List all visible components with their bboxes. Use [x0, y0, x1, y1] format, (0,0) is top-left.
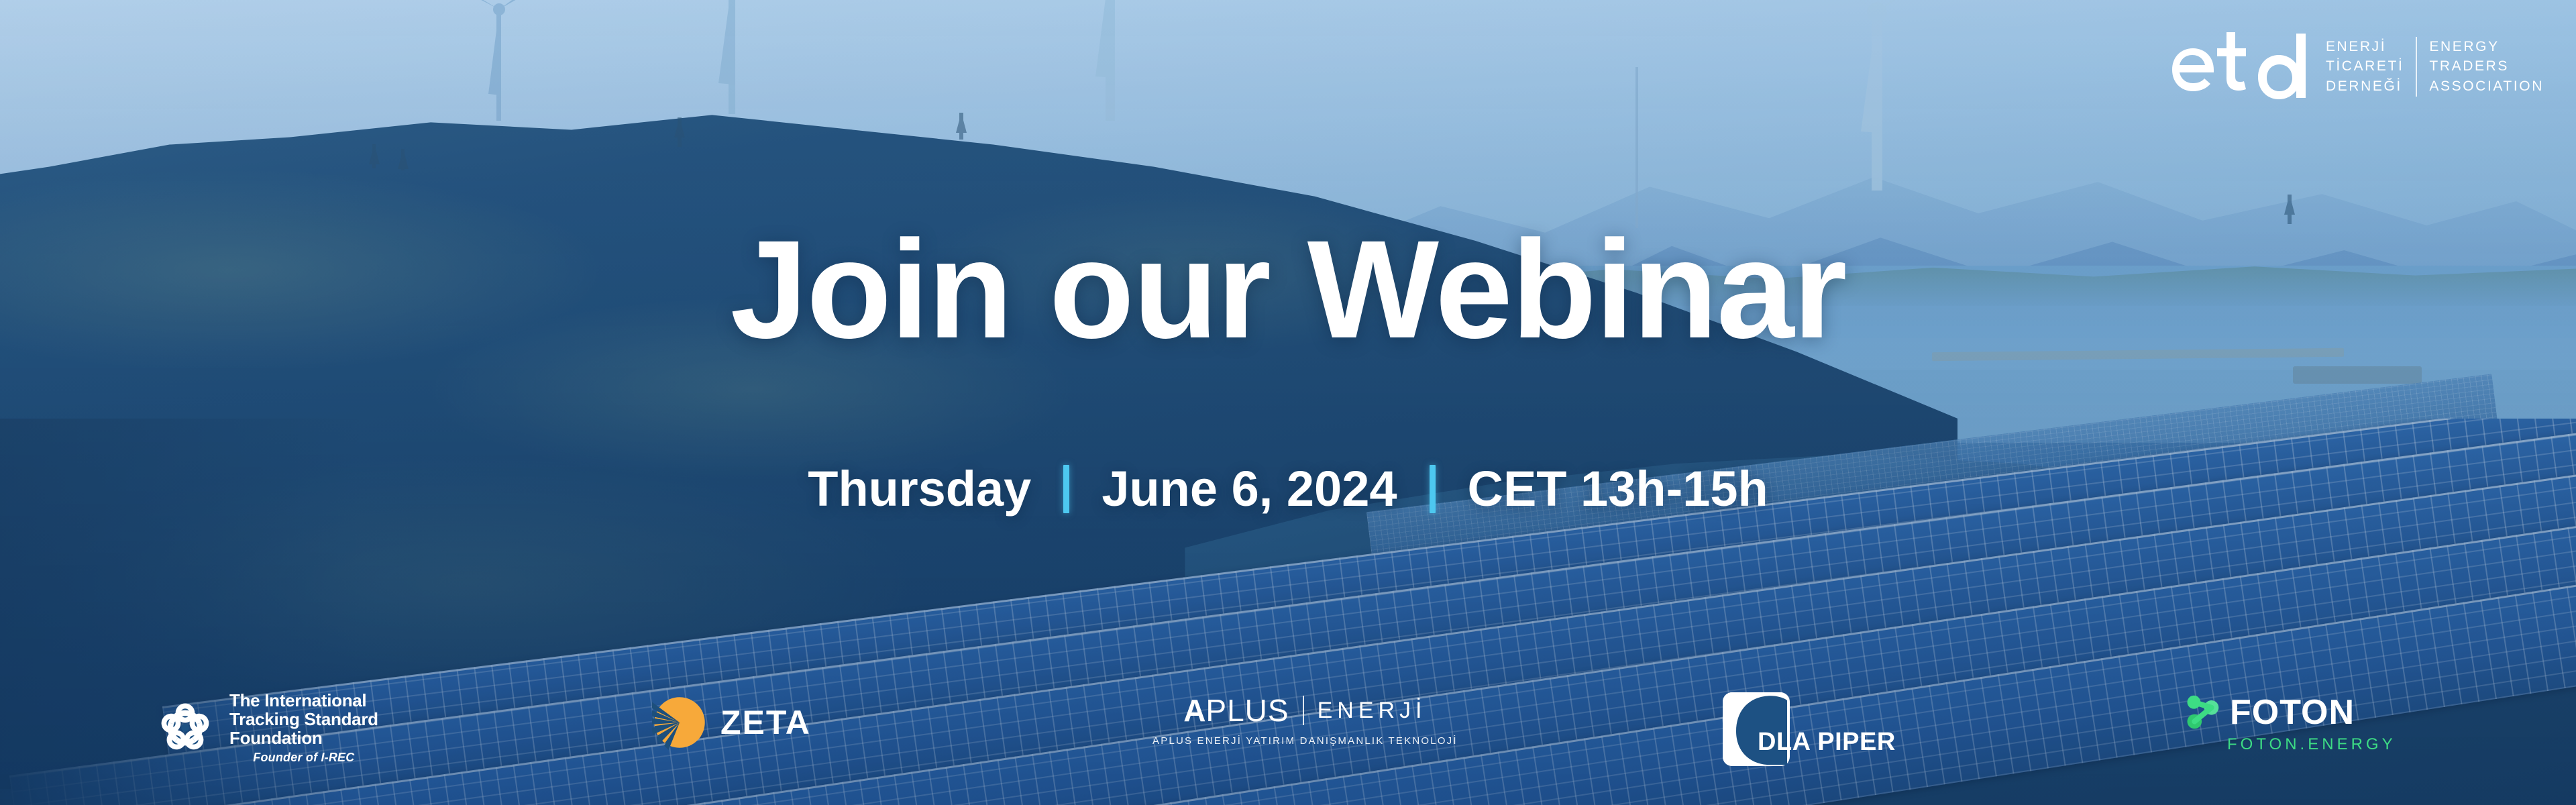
aplus-tagline: APLUS ENERJİ YATIRIM DANIŞMANLIK TEKNOLO…	[1152, 735, 1458, 747]
etd-divider	[2416, 37, 2417, 97]
etd-en-line-3: ASSOCIATION	[2429, 76, 2544, 97]
interlocking-rings-icon	[153, 696, 217, 760]
banner-content: ENERJİ TİCARETİ DERNEĞİ ENERGY TRADERS A…	[0, 0, 2576, 805]
sponsor-foton[interactable]: FOTON FOTON.ENERGY	[2184, 692, 2396, 754]
event-time: CET 13h-15h	[1436, 464, 1801, 514]
itsf-line-3: Foundation	[229, 729, 378, 747]
aplus-wordmark-row: A PLUS ENERJİ	[1183, 692, 1426, 729]
etd-english: ENERGY TRADERS ASSOCIATION	[2429, 37, 2544, 97]
etd-wordmark-icon	[2170, 23, 2311, 101]
webinar-banner: ENERJİ TİCARETİ DERNEĞİ ENERGY TRADERS A…	[0, 0, 2576, 805]
event-day: Thursday	[775, 464, 1063, 514]
page-title: Join our Webinar	[0, 220, 2576, 360]
etd-tr-line-1: ENERJİ	[2326, 37, 2404, 57]
event-date: June 6, 2024	[1069, 464, 1429, 514]
etd-tr-line-2: TİCARETİ	[2326, 56, 2404, 76]
aplus-enerji: ENERJİ	[1318, 698, 1427, 724]
itsf-line-1: The International	[229, 691, 378, 710]
aplus-bold-a: A	[1183, 692, 1205, 729]
sunburst-globe-icon	[652, 695, 707, 750]
aplus-divider	[1303, 696, 1304, 725]
itsf-text: The International Tracking Standard Foun…	[229, 691, 378, 765]
etd-tr-line-3: DERNEĞİ	[2326, 76, 2404, 97]
sponsor-itsf[interactable]: The International Tracking Standard Foun…	[153, 691, 378, 765]
etd-logo: ENERJİ TİCARETİ DERNEĞİ ENERGY TRADERS A…	[2170, 23, 2544, 101]
foton-wordmark: FOTON	[2230, 692, 2355, 733]
foton-url: FOTON.ENERGY	[2227, 735, 2396, 754]
sponsor-zeta[interactable]: ZETA	[652, 695, 811, 750]
etd-tagline: ENERJİ TİCARETİ DERNEĞİ ENERGY TRADERS A…	[2326, 37, 2544, 101]
etd-en-line-1: ENERGY	[2429, 37, 2544, 57]
foton-wordmark-row: FOTON	[2184, 692, 2355, 733]
zeta-wordmark: ZETA	[720, 703, 811, 742]
sponsor-aplus[interactable]: A PLUS ENERJİ APLUS ENERJİ YATIRIM DANIŞ…	[1152, 692, 1458, 747]
etd-turkish: ENERJİ TİCARETİ DERNEĞİ	[2326, 37, 2404, 97]
itsf-line-2: Tracking Standard	[229, 710, 378, 729]
itsf-tagline: Founder of I-REC	[229, 751, 378, 765]
etd-en-line-2: TRADERS	[2429, 56, 2544, 76]
aplus-rest: PLUS	[1205, 692, 1289, 729]
sponsor-bar: The International Tracking Standard Foun…	[0, 692, 2576, 773]
meta-divider	[1430, 465, 1436, 513]
dla-piper-wordmark: DLA PIPER	[1758, 728, 1896, 757]
meta-divider	[1063, 465, 1069, 513]
event-meta: Thursday June 6, 2024 CET 13h-15h	[0, 464, 2576, 514]
sponsor-dla-piper[interactable]: DLA PIPER	[1723, 692, 1944, 766]
green-molecule-icon	[2184, 694, 2220, 731]
